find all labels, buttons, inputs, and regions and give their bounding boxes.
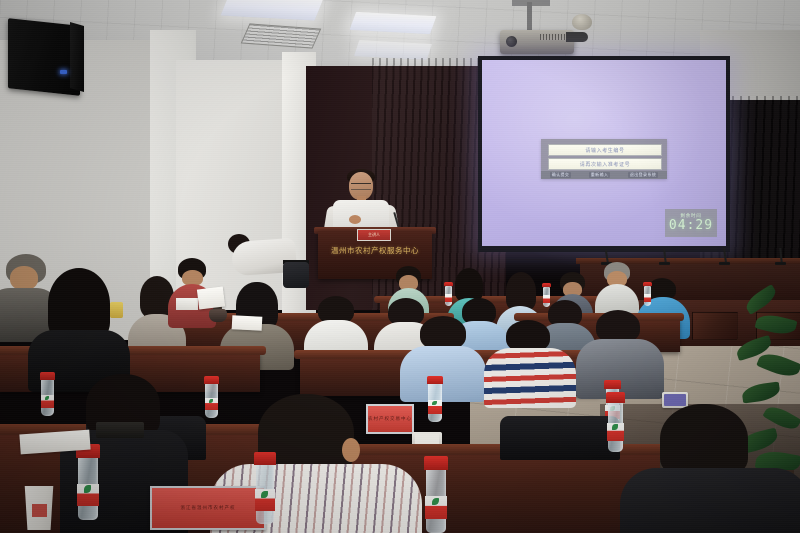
water-bottle-row2-2 xyxy=(427,376,443,422)
notebook-foreground xyxy=(96,422,144,438)
torso xyxy=(400,346,486,402)
slide-exit-button: 退出登录系统 xyxy=(628,172,658,178)
bottle-cap xyxy=(254,452,276,465)
projector-mount-pole xyxy=(527,2,532,32)
bending-person-trousers xyxy=(283,262,309,288)
microphone-base-2 xyxy=(659,262,670,265)
water-bottle-foreground-2 xyxy=(254,452,276,524)
ear xyxy=(342,438,360,462)
paper-sheet-row3-b xyxy=(232,315,263,331)
bottle-cap xyxy=(424,456,448,470)
projector-mount-arm xyxy=(566,32,588,42)
namecard-foreground: 浙江省温州市农村产权 xyxy=(150,486,266,530)
timer-value: 04:29 xyxy=(669,219,713,233)
conference-room-photo: 请输入考生编号 请再次输入准考证号 确认提交 重新输入 退出登录系统 剩余时间 … xyxy=(0,0,800,533)
slide-input-field-1: 请输入考生编号 xyxy=(548,144,662,156)
bottle-cap xyxy=(606,392,625,403)
head xyxy=(455,268,483,302)
podium-banner-text: 温州市农村产权服务中心 xyxy=(320,243,430,257)
namecard-1: 农村产权交易中心 xyxy=(366,404,414,434)
water-bottle-foreground-1 xyxy=(76,444,100,520)
wall-speaker-side xyxy=(70,22,84,92)
water-bottle-far-2 xyxy=(542,283,551,307)
bottle-cap xyxy=(542,283,551,287)
torso xyxy=(484,348,576,408)
podium-nameplate: 主讲人 xyxy=(357,229,391,241)
dome-sensor-icon xyxy=(572,14,592,30)
water-bottle-row2-4 xyxy=(40,372,55,416)
microphone-base-3 xyxy=(719,262,730,265)
namecard-row3 xyxy=(176,298,198,310)
bottle-cap xyxy=(444,282,453,286)
microphone-base-4 xyxy=(775,262,786,265)
yellow-cup xyxy=(110,302,123,318)
bottle-cap xyxy=(427,376,443,384)
head xyxy=(660,404,748,476)
bottle-label xyxy=(644,294,652,301)
slide-confirm-button: 确认提交 xyxy=(550,172,572,178)
tablet-device-3 xyxy=(662,392,688,408)
bottle-label xyxy=(445,294,453,301)
torso xyxy=(620,468,800,533)
bottle-cap xyxy=(204,376,219,384)
paper-cup-logo-icon xyxy=(32,504,47,517)
projector-vent xyxy=(540,34,566,40)
chair-foreground-2 xyxy=(500,416,620,460)
slide-input-field-2: 请再次输入准考证号 xyxy=(548,158,662,170)
projector-lens-icon xyxy=(506,36,517,47)
water-bottle-far-3 xyxy=(643,282,652,306)
bottle-label xyxy=(543,295,551,302)
head xyxy=(506,272,536,310)
slide-dialog-toolbar: 确认提交 重新输入 退出登录系统 xyxy=(541,171,667,179)
presenter-hand xyxy=(349,215,361,224)
speaker-power-led-icon xyxy=(60,70,67,74)
slide-reset-button: 重新输入 xyxy=(589,172,611,178)
desk-panel-diamond-1 xyxy=(692,312,738,340)
head xyxy=(420,316,466,350)
bottle-cap xyxy=(604,380,621,389)
water-bottle-far-1 xyxy=(444,282,453,306)
slide-login-dialog: 请输入考生编号 请再次输入准考证号 确认提交 重新输入 退出登录系统 xyxy=(541,139,667,179)
tablet-screen-3 xyxy=(664,394,686,406)
bottle-cap xyxy=(40,372,55,380)
water-bottle-foreground-4 xyxy=(606,392,625,452)
water-bottle-row2-1 xyxy=(204,376,219,418)
teapot xyxy=(209,309,227,322)
bottle-cap xyxy=(643,282,652,286)
face xyxy=(10,266,38,290)
presenter-glasses-icon xyxy=(351,183,371,190)
slide-countdown-timer: 剩余时间 04:29 xyxy=(665,209,717,237)
water-bottle-foreground-3 xyxy=(424,456,448,533)
bottle-leaf-icon xyxy=(84,485,91,493)
paper-sheet-row3 xyxy=(197,286,225,309)
